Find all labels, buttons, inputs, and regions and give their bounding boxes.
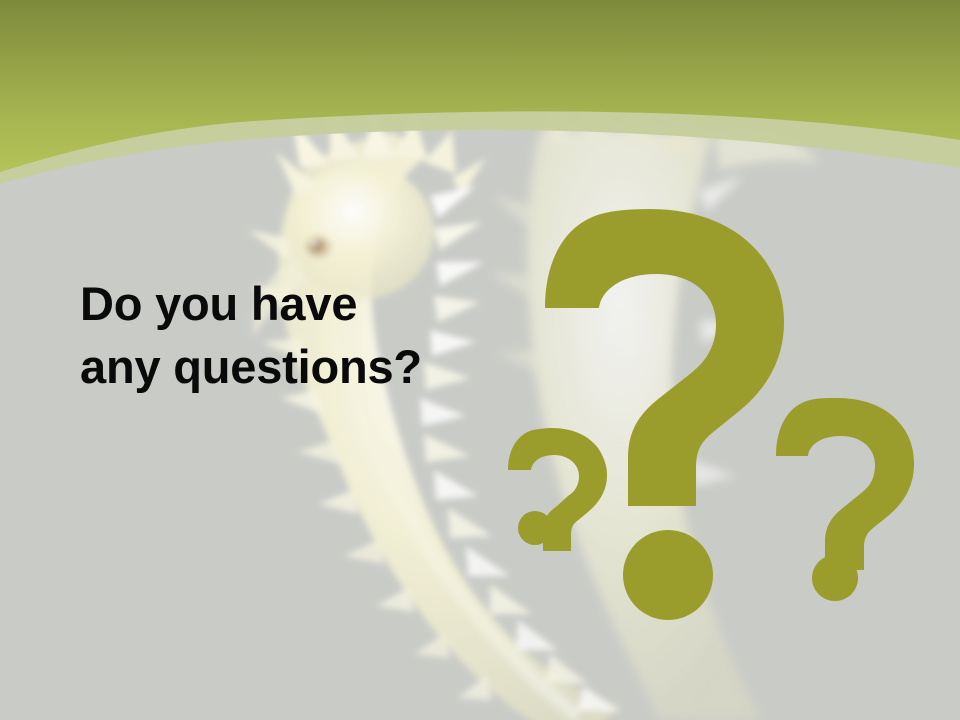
slide-canvas: Do you have any questions? xyxy=(0,0,960,720)
question-mark-small-icon xyxy=(508,428,607,551)
page-title: Do you have any questions? xyxy=(80,272,600,398)
title-line-2: any questions? xyxy=(80,335,600,398)
question-mark-medium-icon xyxy=(776,398,914,601)
question-mark-large-icon xyxy=(545,209,784,620)
title-line-1: Do you have xyxy=(80,272,600,335)
header-band xyxy=(0,0,960,230)
